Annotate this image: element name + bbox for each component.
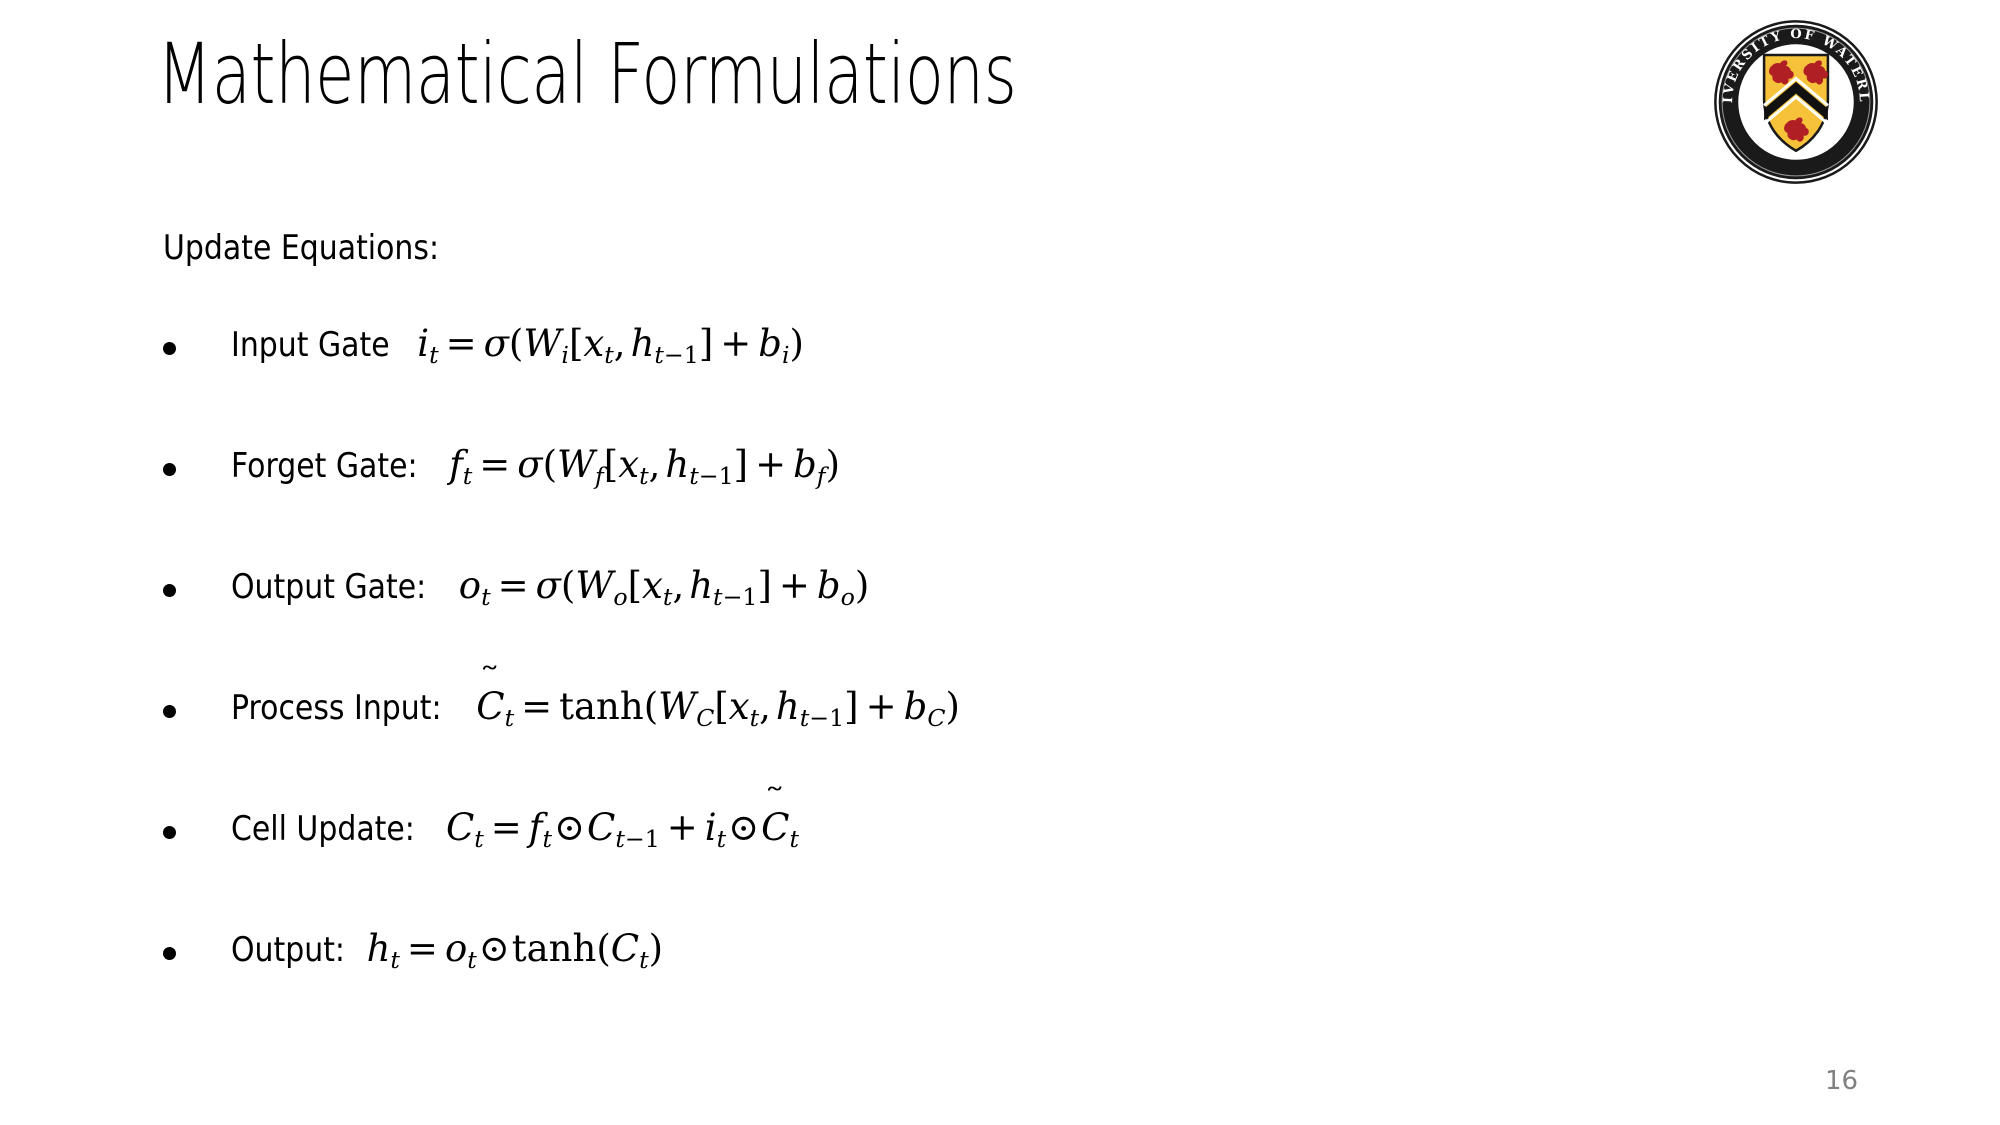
bullet-dot-icon xyxy=(163,463,176,476)
bullet-label: Forget Gate: xyxy=(231,438,418,494)
bullet-content: Cell Update: Ct=ft⊙Ct−1+it⊙˜Ct xyxy=(231,800,799,857)
bullet-dot-icon xyxy=(163,342,176,355)
equation-process-input: ˜Ct=tanh(WC[xt,ht−1]+bC) xyxy=(476,679,960,735)
lead-line-update-equations: Update Equations: xyxy=(163,227,439,269)
bullet-label: Input Gate xyxy=(231,317,390,373)
bullet-content: Input Gate it=σ(Wi[xt,ht−1]+bi) xyxy=(231,316,804,373)
equation-bullet-list: Input Gate it=σ(Wi[xt,ht−1]+bi) Forget G… xyxy=(0,316,1700,1042)
bullet-dot-icon xyxy=(163,705,176,718)
bullet-label: Process Input: xyxy=(231,680,442,736)
bullet-content: Output: ht=ot⊙tanh(Ct) xyxy=(231,921,663,978)
bullet-dot-icon xyxy=(163,826,176,839)
bullet-item-forget-gate: Forget Gate: ft=σ(Wf[xt,ht−1]+bf) xyxy=(0,437,1700,558)
bullet-label: Output Gate: xyxy=(231,559,426,615)
bullet-dot-icon xyxy=(163,947,176,960)
bullet-dot-icon xyxy=(163,584,176,597)
bullet-content: Output Gate: ot=σ(Wo[xt,ht−1]+bo) xyxy=(231,558,869,615)
bullet-item-process-input: Process Input: ˜Ct=tanh(WC[xt,ht−1]+bC) xyxy=(0,679,1700,800)
bullet-content: Process Input: ˜Ct=tanh(WC[xt,ht−1]+bC) xyxy=(231,679,960,736)
equation-input-gate: it=σ(Wi[xt,ht−1]+bi) xyxy=(417,316,804,372)
bullet-item-output-gate: Output Gate: ot=σ(Wo[xt,ht−1]+bo) xyxy=(0,558,1700,679)
bullet-item-output: Output: ht=ot⊙tanh(Ct) xyxy=(0,921,1700,1042)
page-number: 16 xyxy=(1825,1066,1945,1096)
bullet-label: Cell Update: xyxy=(231,801,415,857)
equation-output: ht=ot⊙tanh(Ct) xyxy=(367,921,663,977)
equation-forget-gate: ft=σ(Wf[xt,ht−1]+bf) xyxy=(449,437,840,493)
bullet-item-cell-update: Cell Update: Ct=ft⊙Ct−1+it⊙˜Ct xyxy=(0,800,1700,921)
bullet-content: Forget Gate: ft=σ(Wf[xt,ht−1]+bf) xyxy=(231,437,840,494)
slide-canvas: Mathematical Formulations UNIVERSITY OF … xyxy=(0,0,2000,1125)
equation-output-gate: ot=σ(Wo[xt,ht−1]+bo) xyxy=(459,558,870,614)
bullet-label: Output: xyxy=(231,922,345,978)
slide-body: Update Equations: Input Gate it=σ(Wi[xt,… xyxy=(0,0,2000,1125)
equation-cell-update: Ct=ft⊙Ct−1+it⊙˜Ct xyxy=(446,800,799,856)
bullet-item-input-gate: Input Gate it=σ(Wi[xt,ht−1]+bi) xyxy=(0,316,1700,437)
